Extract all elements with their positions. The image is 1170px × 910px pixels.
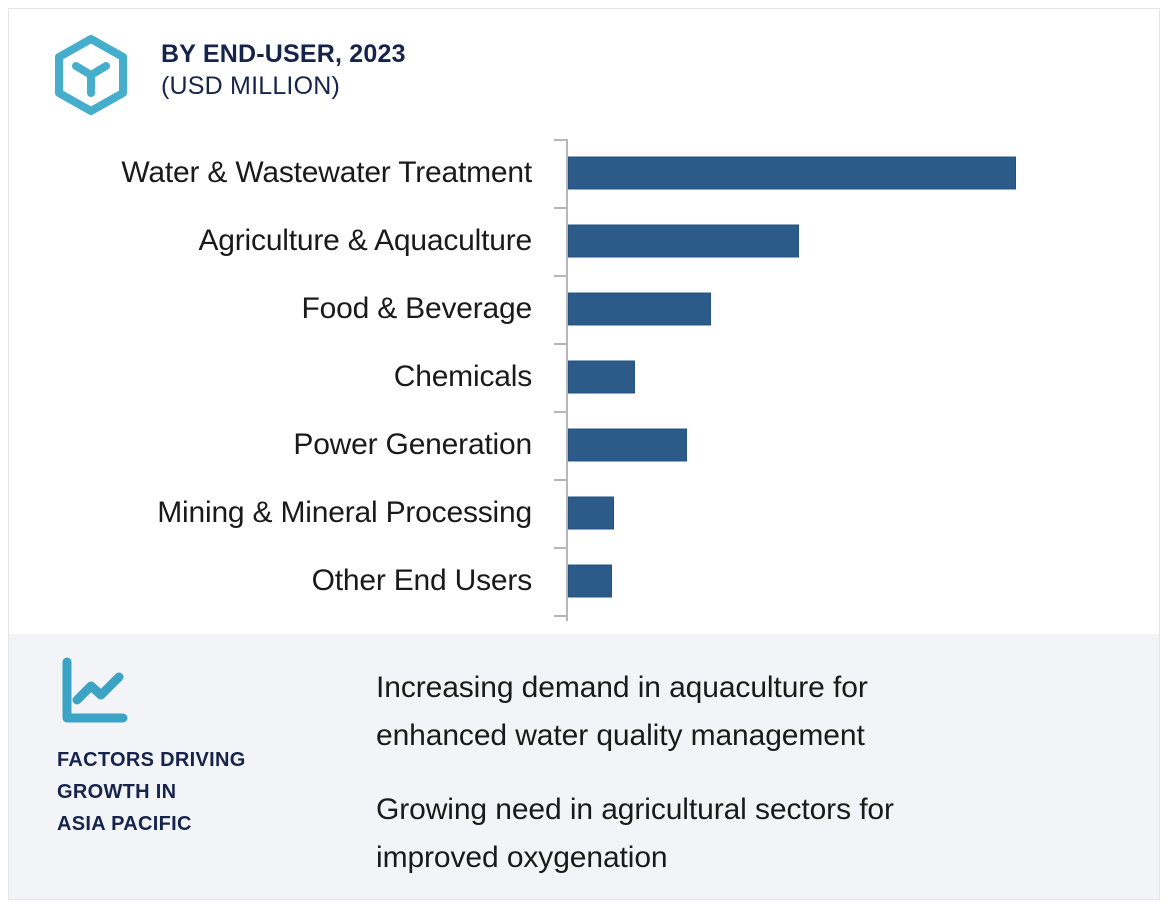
axis-tick (554, 343, 566, 345)
infographic-card: BY END-USER, 2023 (USD MILLION) Water & … (8, 8, 1160, 900)
chart-row: Food & Beverage (9, 275, 1160, 343)
factors-panel-heading: FACTORS DRIVING GROWTH IN ASIA PACIFIC (57, 656, 357, 840)
axis-tick (554, 615, 566, 617)
list-item: Growing need in agricultural sectors for… (367, 786, 1131, 882)
chart-subtitle: (USD MILLION) (161, 69, 406, 103)
factors-bullet-list: Increasing demand in aquaculture for enh… (367, 664, 1131, 900)
axis-tick (554, 207, 566, 209)
bar[interactable] (568, 225, 799, 258)
factors-title-line-1: FACTORS DRIVING (57, 744, 357, 776)
category-label: Food & Beverage (302, 292, 532, 326)
line-chart-icon (57, 656, 131, 730)
bar[interactable] (568, 293, 711, 326)
category-label: Power Generation (293, 428, 532, 462)
chart-row: Mining & Mineral Processing (9, 479, 1160, 547)
axis-tick (554, 139, 566, 141)
factors-title-line-3: ASIA PACIFIC (57, 808, 357, 840)
axis-tick (554, 547, 566, 549)
chart-title: BY END-USER, 2023 (161, 39, 406, 69)
chart-row: Agriculture & Aquaculture (9, 207, 1160, 275)
bar[interactable] (568, 497, 614, 530)
chart-header: BY END-USER, 2023 (USD MILLION) (9, 9, 1159, 129)
category-label: Other End Users (312, 564, 532, 598)
chart-row: Water & Wastewater Treatment (9, 139, 1160, 207)
category-label: Chemicals (394, 360, 532, 394)
category-label: Agriculture & Aquaculture (198, 224, 532, 258)
axis-tick (554, 411, 566, 413)
bar[interactable] (568, 157, 1016, 190)
factors-title-line-2: GROWTH IN (57, 776, 357, 808)
factor-text: Growing need in agricultural sectors for… (376, 786, 1006, 882)
chart-row: Power Generation (9, 411, 1160, 479)
bar-chart-rows: Water & Wastewater Treatment Agriculture… (9, 139, 1160, 615)
bar[interactable] (568, 565, 612, 598)
title-block: BY END-USER, 2023 (USD MILLION) (161, 39, 406, 103)
bar-chart: Water & Wastewater Treatment Agriculture… (9, 129, 1160, 629)
bar[interactable] (568, 361, 635, 394)
list-item: Increasing demand in aquaculture for enh… (367, 664, 1131, 760)
axis-tick (554, 479, 566, 481)
chart-row: Chemicals (9, 343, 1160, 411)
category-label: Mining & Mineral Processing (157, 496, 532, 530)
category-label: Water & Wastewater Treatment (121, 156, 532, 190)
factors-panel: FACTORS DRIVING GROWTH IN ASIA PACIFIC I… (9, 634, 1160, 899)
axis-tick (554, 275, 566, 277)
factor-text: Increasing demand in aquaculture for enh… (376, 664, 1006, 760)
bar[interactable] (568, 429, 687, 462)
chart-row: Other End Users (9, 547, 1160, 615)
factors-panel-title: FACTORS DRIVING GROWTH IN ASIA PACIFIC (57, 744, 357, 840)
hexagon-y-icon (53, 35, 129, 115)
